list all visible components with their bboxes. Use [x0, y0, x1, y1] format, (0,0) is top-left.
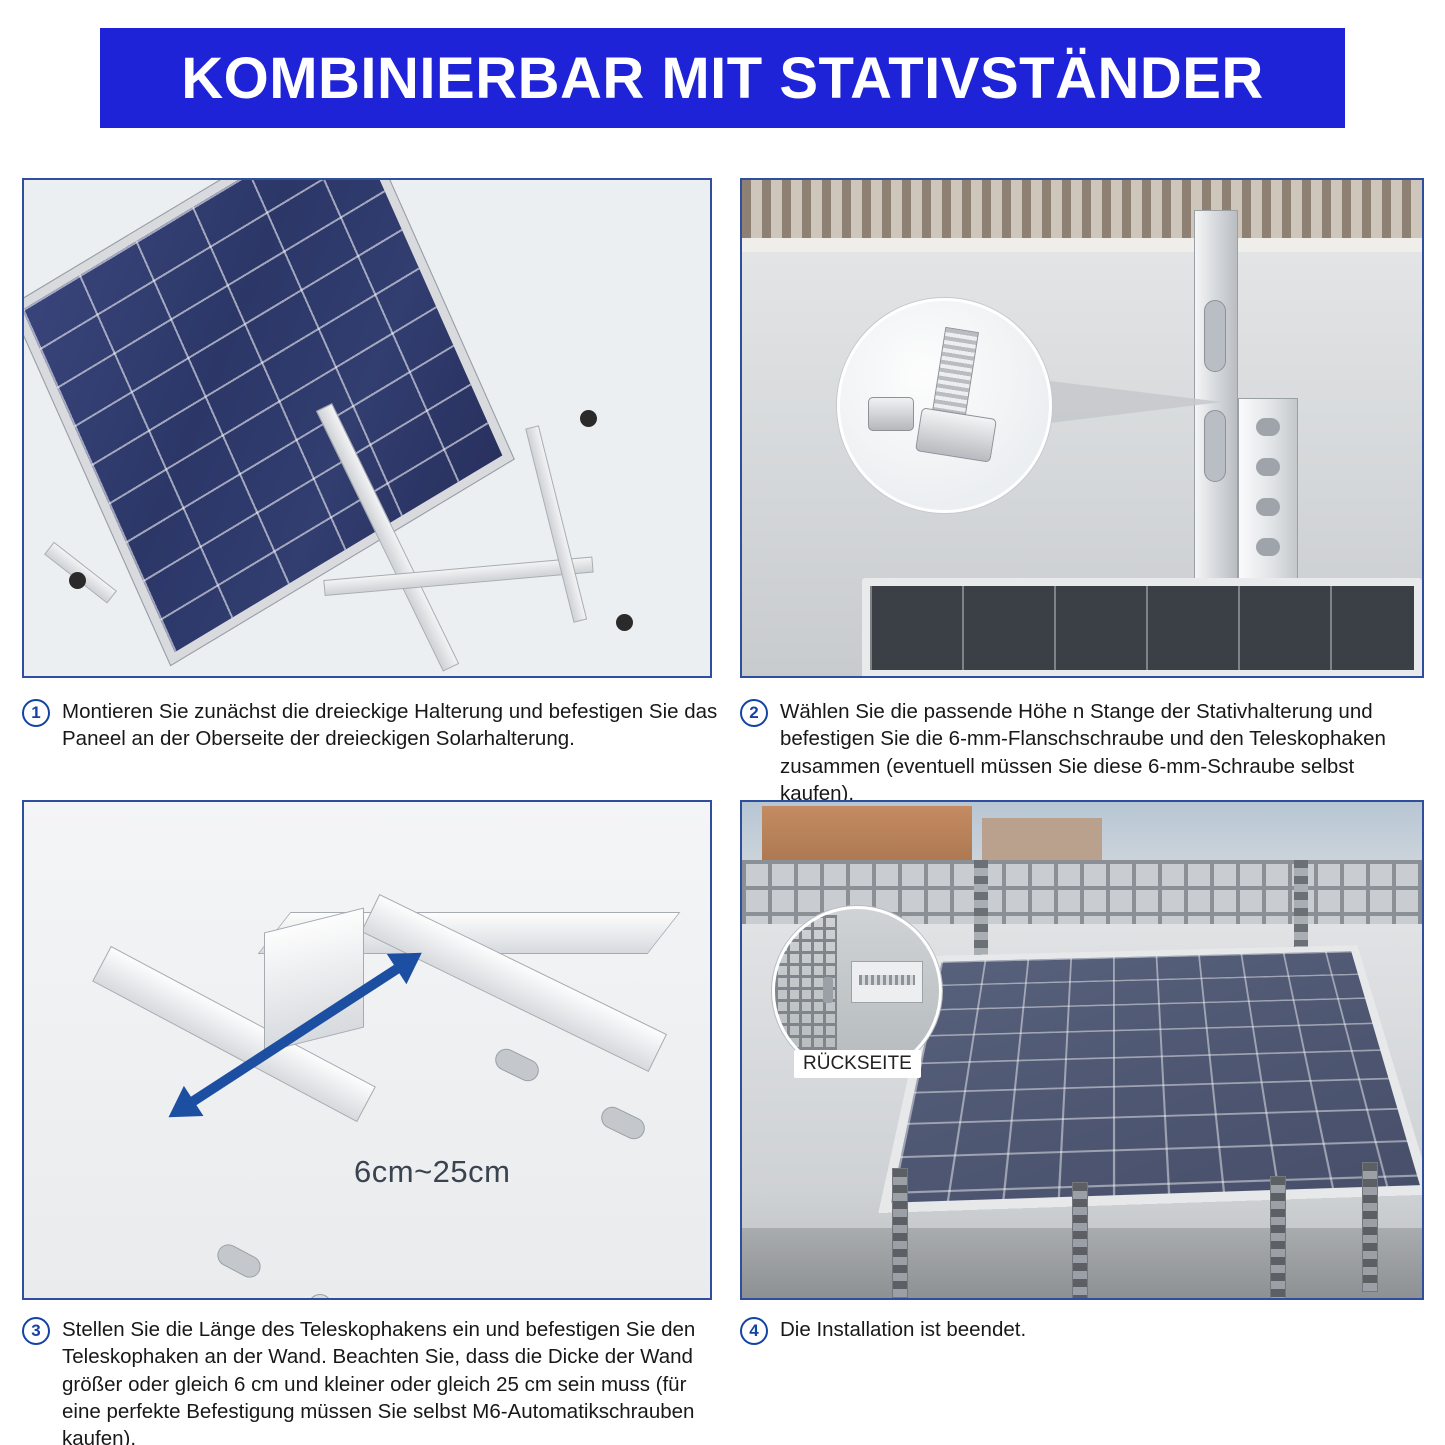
bolt-knob-icon [616, 614, 633, 631]
callout-bolt-icon [823, 977, 833, 1003]
step-caption-1: 1 Montieren Sie zunächst die dreieckige … [22, 698, 722, 753]
bolt-thread-icon [931, 327, 979, 423]
wall-coping [742, 238, 1422, 252]
step-image-4: RÜCKSEITE [740, 800, 1424, 1300]
step-image-2 [740, 178, 1424, 678]
step-text-2: Wählen Sie die passende Höhe n Stange de… [780, 698, 1430, 807]
product-instruction-sheet: KOMBINIERBAR MIT STATIVSTÄNDER [0, 0, 1445, 1445]
step-number-badge-3: 3 [22, 1317, 50, 1345]
callout-leader [1042, 380, 1222, 424]
rail-hole [1256, 458, 1280, 476]
dimension-label: 6cm~25cm [354, 1154, 510, 1190]
support-leg [1072, 1182, 1088, 1300]
support-leg [1270, 1176, 1286, 1300]
step-text-1: Montieren Sie zunächst die dreieckige Ha… [62, 698, 722, 753]
support-leg [1362, 1162, 1378, 1292]
bolt-knob-icon [580, 410, 597, 427]
rail-hole [1256, 498, 1280, 516]
step-text-4: Die Installation ist beendet. [780, 1316, 1026, 1343]
post-slot [1204, 300, 1226, 372]
telescopic-hook-hanger [1294, 860, 1308, 960]
hook-sliding-plate [264, 908, 364, 1053]
bolt-callout-circle [837, 298, 1052, 513]
rail-hole [1256, 538, 1280, 556]
header-banner: KOMBINIERBAR MIT STATIVSTÄNDER [100, 28, 1345, 128]
step-caption-4: 4 Die Installation ist beendet. [740, 1316, 1430, 1345]
page-title: KOMBINIERBAR MIT STATIVSTÄNDER [181, 45, 1264, 112]
backside-label: RÜCKSEITE [794, 1050, 921, 1078]
step-caption-2: 2 Wählen Sie die passende Höhe n Stange … [740, 698, 1430, 807]
step-image-3: 6cm~25cm [22, 800, 712, 1300]
support-leg [892, 1168, 908, 1298]
step-number-badge-2: 2 [740, 699, 768, 727]
solar-panel-edge [862, 578, 1422, 678]
callout-screw-icon [859, 975, 915, 985]
bolt-head-icon [915, 407, 997, 462]
bolt-knob-icon [69, 572, 86, 589]
rail-hole [1256, 418, 1280, 436]
installed-solar-panel [878, 945, 1424, 1213]
step-text-3: Stellen Sie die Länge des Teleskophakens… [62, 1316, 722, 1445]
flange-nut-icon [868, 397, 914, 431]
step-image-1 [22, 178, 712, 678]
step-number-badge-1: 1 [22, 699, 50, 727]
step-caption-3: 3 Stellen Sie die Länge des Teleskophake… [22, 1316, 722, 1445]
step-number-badge-4: 4 [740, 1317, 768, 1345]
telescopic-hook-hanger [974, 860, 988, 960]
fence-top [742, 180, 1422, 242]
